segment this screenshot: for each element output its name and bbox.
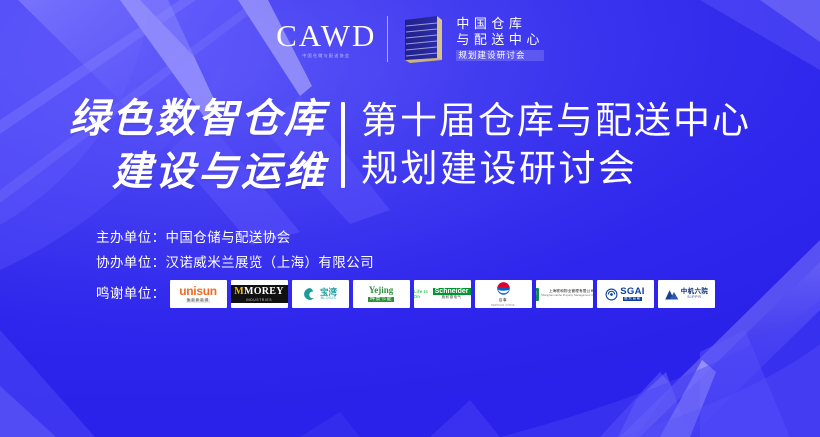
sponsor-logo-strip: unisun 聚能新能源 MMOREY INDUSTRIES [170,280,715,308]
sponsor-subtitle: SIPPR [687,296,701,299]
sponsors-row: 鸣谢单位： unisun 聚能新能源 MMOREY INDUSTRIES [96,280,715,308]
thanks-label: 鸣谢单位： [96,287,166,301]
cawd-logo: CAWD 中国仓储与配送协会 [276,20,376,58]
sponsor-subtitle-latin: Shanghai Lianhe Property Management Co.,… [541,295,592,298]
title-event-line-2: 规划建设研讨会 [361,145,751,193]
conference-poster: CAWD 中国仓储与配送协会 [0,0,820,437]
background-shapes-svg [0,0,820,437]
title-event-line-1: 第十届仓库与配送中心 [361,97,751,145]
sponsor-subtitle-latin: PEPSICO CHINA [491,304,515,307]
sponsor-logo-morey[interactable]: MMOREY INDUSTRIES [231,280,288,308]
event-name-line-2: 与配送中心 [456,33,544,47]
title-theme: 绿色数智仓库 建设与运维 [69,92,341,198]
sponsor-logo-schneider[interactable]: Life Is On Schneider 施耐德电气 [414,280,471,308]
warehouse-shelf-icon [399,14,445,64]
host-organization: 主办单位：中国仓储与配送协会 [96,231,715,245]
sponsor-subtitle: 施耐德电气 [442,296,462,299]
sponsor-logo-sgai[interactable]: SGAI 盛安智能 [597,280,654,308]
title-theme-line-2: 建设与运维 [69,145,327,198]
sponsor-name: 宝湾 [320,288,337,297]
sponsor-subtitle: INDUSTRIES [246,298,272,302]
event-name-cn: 中国仓库 与配送中心 规划建设研讨会 [456,17,544,62]
sponsor-mark: LJ [536,288,540,301]
sponsor-logo-yejing[interactable]: Yejing 晔景节能 [353,280,410,308]
title-theme-line-1: 绿色数智仓库 [69,92,327,145]
event-name-line-3: 规划建设研讨会 [456,50,544,61]
sponsor-name: Yejing [369,286,394,295]
sponsor-subtitle: BLOGIS [321,297,337,300]
sponsor-subtitle: 百事 [499,298,507,303]
blogis-swirl-icon [303,287,317,301]
title-event: 第十届仓库与配送中心 规划建设研讨会 [345,97,751,193]
sponsor-logo-sippr[interactable]: 中机六院 SIPPR [658,280,715,308]
cawd-acronym-subtitle: 中国仓储与配送协会 [302,54,350,58]
sgai-swirl-icon [605,288,618,301]
sponsor-subtitle: 聚能新能源 [186,299,210,303]
sponsor-name: MMOREY [234,286,284,297]
logo-divider [387,16,388,62]
credits-block: 主办单位：中国仓储与配送协会 协办单位：汉诺威米兰展览（上海）有限公司 鸣谢单位… [96,231,715,308]
poster-title: 绿色数智仓库 建设与运维 第十届仓库与配送中心 规划建设研讨会 [0,92,820,198]
sponsor-subtitle: 盛安智能 [623,297,642,301]
event-name-line-1: 中国仓库 [456,17,544,31]
pepsi-globe-icon [496,281,511,296]
event-logo: CAWD 中国仓储与配送协会 [0,14,820,64]
sponsor-logo-unisun[interactable]: unisun 聚能新能源 [170,280,227,308]
coorganizer-organization: 协办单位：汉诺威米兰展览（上海）有限公司 [96,256,715,270]
cawd-acronym: CAWD [276,20,376,51]
sponsor-logo-pepsi-cn[interactable]: 百事 PEPSICO CHINA [475,280,532,308]
sponsor-name: unisun [179,285,217,297]
sippr-mountain-icon [664,288,679,301]
sponsor-subtitle: 晔景节能 [368,297,394,302]
sponsor-logo-blogis[interactable]: 宝湾 BLOGIS [292,280,349,308]
background-decoration [0,0,820,437]
sponsor-tagline: Life Is On [414,289,431,299]
sponsor-logo-shanghai-property[interactable]: LJ 上海联和物业管理有限公司 Shanghai Lianhe Property… [536,280,593,308]
